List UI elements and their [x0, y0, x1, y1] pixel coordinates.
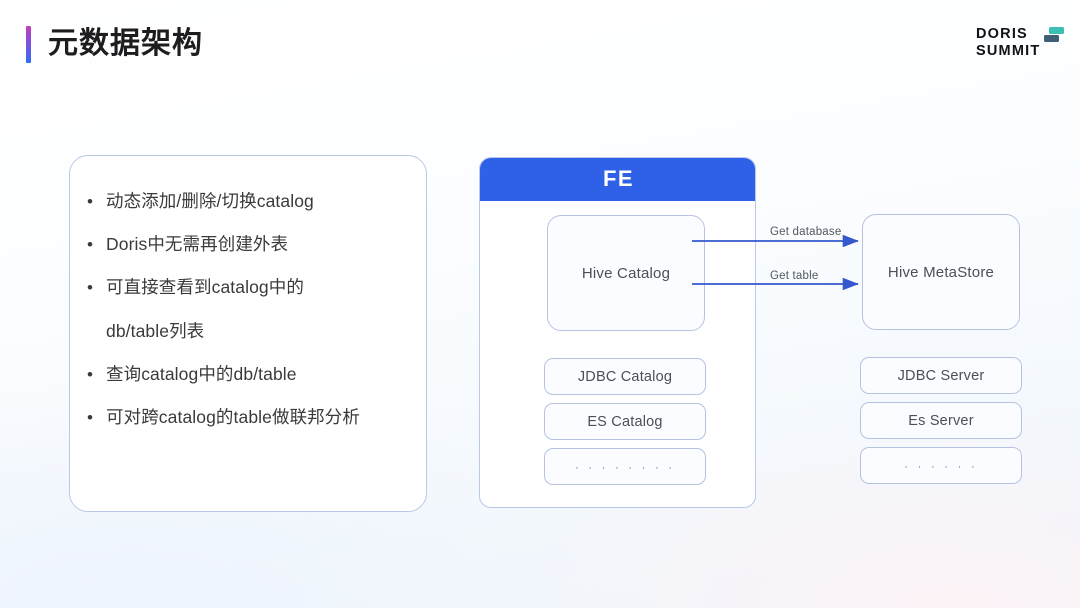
node-es-server: Es Server: [860, 402, 1022, 439]
list-item-label: 动态添加/删除/切换catalog: [106, 188, 314, 215]
list-item: • 可直接查看到catalog中的 db/table列表: [87, 274, 416, 345]
list-item-label-line1: 可直接查看到catalog中的: [106, 277, 304, 297]
list-item-label-line2: db/table列表: [106, 318, 304, 345]
list-item-label: 可直接查看到catalog中的 db/table列表: [106, 274, 304, 345]
list-item-label: Doris中无需再创建外表: [106, 231, 288, 258]
node-hive-catalog: Hive Catalog: [547, 215, 705, 331]
fe-container: FE Hive Catalog JDBC Catalog ES Catalog …: [479, 157, 756, 508]
node-es-server-label: Es Server: [908, 413, 973, 429]
list-item: • 查询catalog中的db/table: [87, 361, 416, 388]
doris-blocks-icon: [1044, 27, 1064, 42]
list-item: • Doris中无需再创建外表: [87, 231, 416, 258]
fe-header: FE: [479, 157, 756, 201]
node-jdbc-server: JDBC Server: [860, 357, 1022, 394]
node-jdbc-server-label: JDBC Server: [898, 368, 985, 384]
bullet-dot-icon: •: [87, 274, 106, 301]
block-top-shape: [1049, 27, 1064, 34]
node-es-catalog-label: ES Catalog: [587, 414, 662, 430]
bullet-dot-icon: •: [87, 404, 106, 431]
node-more-catalogs: · · · · · · · ·: [544, 448, 706, 485]
arrow-label-get-table: Get table: [770, 270, 818, 282]
arrow-label-get-database: Get database: [770, 226, 841, 238]
list-item-label: 可对跨catalog的table做联邦分析: [106, 404, 360, 431]
node-more-servers: · · · · · ·: [860, 447, 1022, 484]
feature-bullets-list: • 动态添加/删除/切换catalog • Doris中无需再创建外表 • 可直…: [87, 188, 416, 447]
bullet-dot-icon: •: [87, 361, 106, 388]
node-jdbc-catalog-label: JDBC Catalog: [578, 369, 672, 385]
title-accent-bar: [26, 26, 31, 63]
node-jdbc-catalog: JDBC Catalog: [544, 358, 706, 395]
list-item-label: 查询catalog中的db/table: [106, 361, 297, 388]
node-more-servers-label: · · · · · ·: [904, 459, 978, 473]
list-item: • 可对跨catalog的table做联邦分析: [87, 404, 416, 431]
node-hive-metastore: Hive MetaStore: [862, 214, 1020, 330]
bullet-dot-icon: •: [87, 188, 106, 215]
doris-summit-logo: DORIS SUMMIT: [976, 26, 1066, 66]
list-item: • 动态添加/删除/切换catalog: [87, 188, 416, 215]
bullet-dot-icon: •: [87, 231, 106, 258]
slide-canvas: 元数据架构 DORIS SUMMIT • 动态添加/删除/切换catalog •…: [0, 0, 1080, 608]
logo-line-summit: SUMMIT: [976, 43, 1066, 60]
node-hive-metastore-label: Hive MetaStore: [888, 264, 994, 281]
block-bottom-shape: [1044, 35, 1059, 42]
fe-header-label: FE: [603, 166, 634, 192]
feature-bullets-card: • 动态添加/删除/切换catalog • Doris中无需再创建外表 • 可直…: [69, 155, 427, 512]
node-es-catalog: ES Catalog: [544, 403, 706, 440]
page-title: 元数据架构: [48, 21, 203, 67]
node-hive-catalog-label: Hive Catalog: [582, 265, 670, 282]
node-more-catalogs-label: · · · · · · · ·: [575, 460, 675, 474]
